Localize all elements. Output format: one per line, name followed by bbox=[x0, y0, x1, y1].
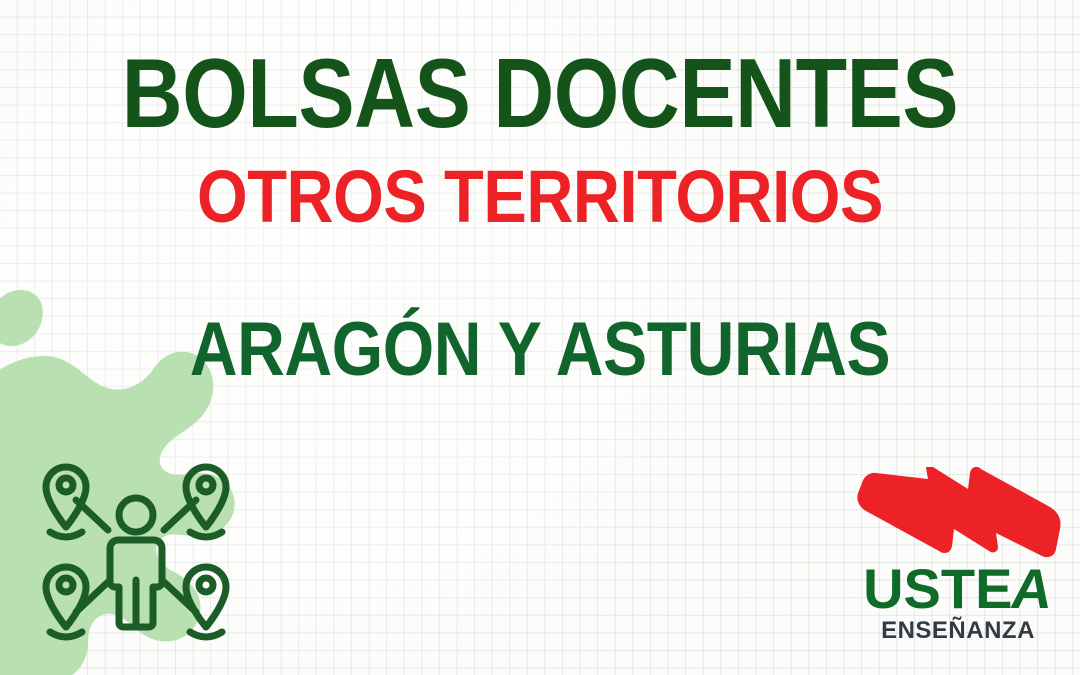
map-pin-bottom-left bbox=[46, 567, 86, 637]
page-title: BOLSAS DOCENTES bbox=[76, 44, 1005, 142]
splash-blob-small bbox=[0, 290, 43, 346]
page-subtitle: OTROS TERRITORIOS bbox=[65, 160, 1015, 234]
geolocation-network-icon bbox=[18, 452, 254, 642]
region-title: ARAGÓN Y ASTURIAS bbox=[70, 312, 1010, 388]
lightning-bolt-mark bbox=[850, 467, 1066, 559]
person-figure bbox=[110, 498, 162, 627]
map-pin-bottom-right bbox=[186, 567, 226, 637]
map-pin-top-right bbox=[186, 467, 226, 537]
ustea-wordmark-tail: A bbox=[1008, 561, 1057, 617]
ustea-tagline: ENSEÑANZA bbox=[850, 619, 1066, 643]
map-pin-top-left bbox=[46, 467, 86, 537]
ustea-logo: USTEA ENSEÑANZA bbox=[850, 467, 1066, 667]
poster-canvas: BOLSAS DOCENTES OTROS TERRITORIOS ARAGÓN… bbox=[0, 0, 1080, 675]
ustea-wordmark-text: USTE bbox=[863, 557, 1012, 620]
ustea-wordmark: USTEA bbox=[850, 561, 1066, 617]
